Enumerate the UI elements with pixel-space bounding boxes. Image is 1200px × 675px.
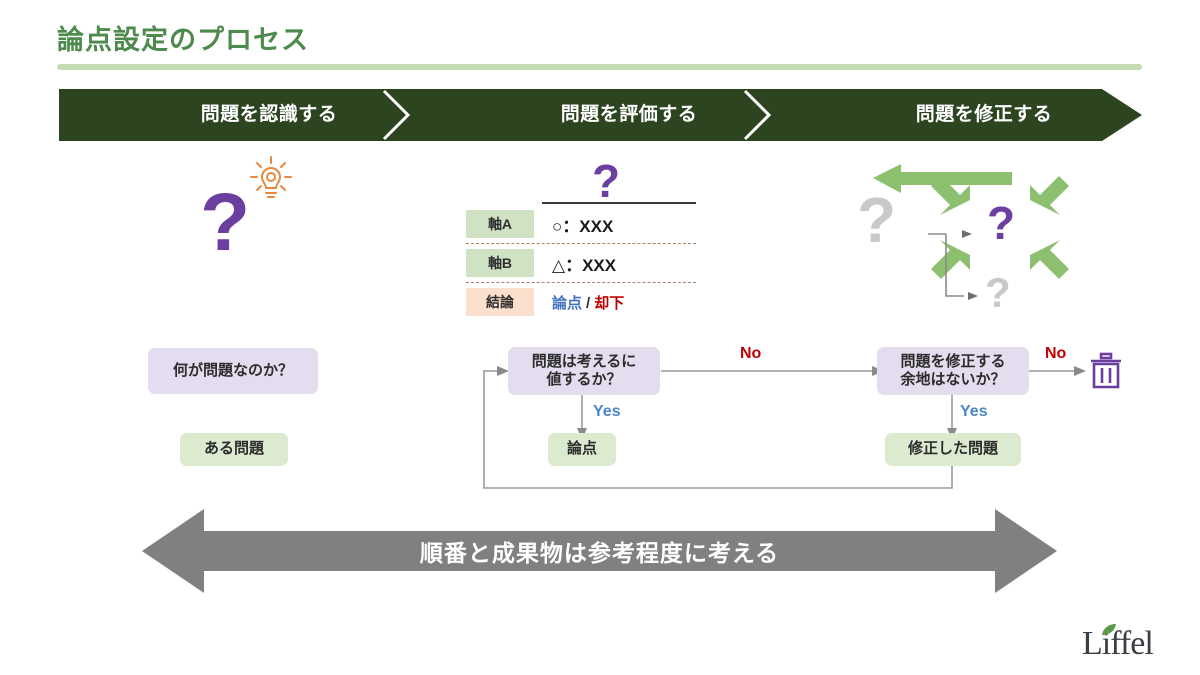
table-conclusion-value: 論点/却下 bbox=[534, 292, 624, 313]
conclusion-option-yes: 論点 bbox=[552, 295, 582, 312]
stage3-ghost-question-icon-left: ? bbox=[857, 188, 896, 252]
stage1-box-what-is-problem[interactable]: 何が問題なのか？ bbox=[148, 348, 318, 394]
stage3-decision-box[interactable]: 問題を修正する 余地はないか？ bbox=[877, 347, 1029, 395]
table-row: 軸A ○：XXX bbox=[466, 210, 696, 238]
trash-icon[interactable] bbox=[1089, 352, 1123, 395]
conclusion-separator: / bbox=[582, 295, 594, 312]
stage2-decision-line2: 値するか？ bbox=[546, 371, 621, 388]
title-divider bbox=[57, 64, 1142, 70]
conclusion-option-no: 却下 bbox=[594, 295, 624, 312]
stage3-decision-line1: 問題を修正する bbox=[900, 353, 1005, 370]
stage3-no-label: No bbox=[1045, 345, 1066, 363]
evaluation-table: 軸A ○：XXX 軸B △：XXX 結論 論点/却下 bbox=[466, 202, 696, 316]
table-row-value: ○：XXX bbox=[534, 212, 613, 237]
footer-arrow-label: 順番と成果物は参考程度に考える bbox=[142, 505, 1057, 597]
table-row-label: 軸B bbox=[466, 249, 534, 277]
stage1-box-a-problem[interactable]: ある問題 bbox=[180, 433, 288, 466]
process-banner: 問題を認識する 問題を評価する 問題を修正する bbox=[59, 89, 1142, 141]
table-row-divider bbox=[466, 243, 696, 244]
stage3-question-icon: ? bbox=[987, 200, 1015, 246]
process-step-2-label: 問題を評価する bbox=[479, 89, 779, 141]
stage3-yes-label: Yes bbox=[960, 403, 988, 421]
stage3-ghost-question-icon-bottom: ? bbox=[985, 272, 1011, 314]
table-conclusion-label: 結論 bbox=[466, 288, 534, 316]
slide-canvas: 論点設定のプロセス 問題を認識する 問題を評価する 問題を修正する ? bbox=[0, 0, 1200, 675]
lightbulb-icon bbox=[248, 155, 294, 206]
logo-text: Liffel bbox=[1082, 625, 1153, 662]
table-conclusion-row: 結論 論点/却下 bbox=[466, 288, 696, 316]
table-row-value: △：XXX bbox=[534, 251, 616, 276]
process-step-1-label: 問題を認識する bbox=[119, 89, 419, 141]
stage3-outcome-box[interactable]: 修正した問題 bbox=[885, 433, 1021, 466]
table-header-rule bbox=[542, 202, 696, 204]
brand-logo: Liffel bbox=[1082, 625, 1153, 663]
stage2-decision-box[interactable]: 問題は考えるに 値するか？ bbox=[508, 347, 660, 395]
stage1-question-icon: ? bbox=[200, 182, 250, 264]
stage2-no-label: No bbox=[740, 345, 761, 363]
stage2-decision-line1: 問題は考えるに bbox=[532, 353, 637, 370]
page-title: 論点設定のプロセス bbox=[57, 18, 309, 57]
stage3-decision-line2: 余地はないか？ bbox=[900, 371, 1005, 388]
table-row-divider bbox=[466, 282, 696, 283]
table-row-label: 軸A bbox=[466, 210, 534, 238]
stage2-question-icon: ? bbox=[592, 158, 620, 204]
process-step-3-label: 問題を修正する bbox=[834, 89, 1134, 141]
table-row: 軸B △：XXX bbox=[466, 249, 696, 277]
stage2-yes-label: Yes bbox=[593, 403, 621, 421]
stage2-outcome-box[interactable]: 論点 bbox=[548, 433, 616, 466]
leaf-icon bbox=[1101, 624, 1117, 636]
